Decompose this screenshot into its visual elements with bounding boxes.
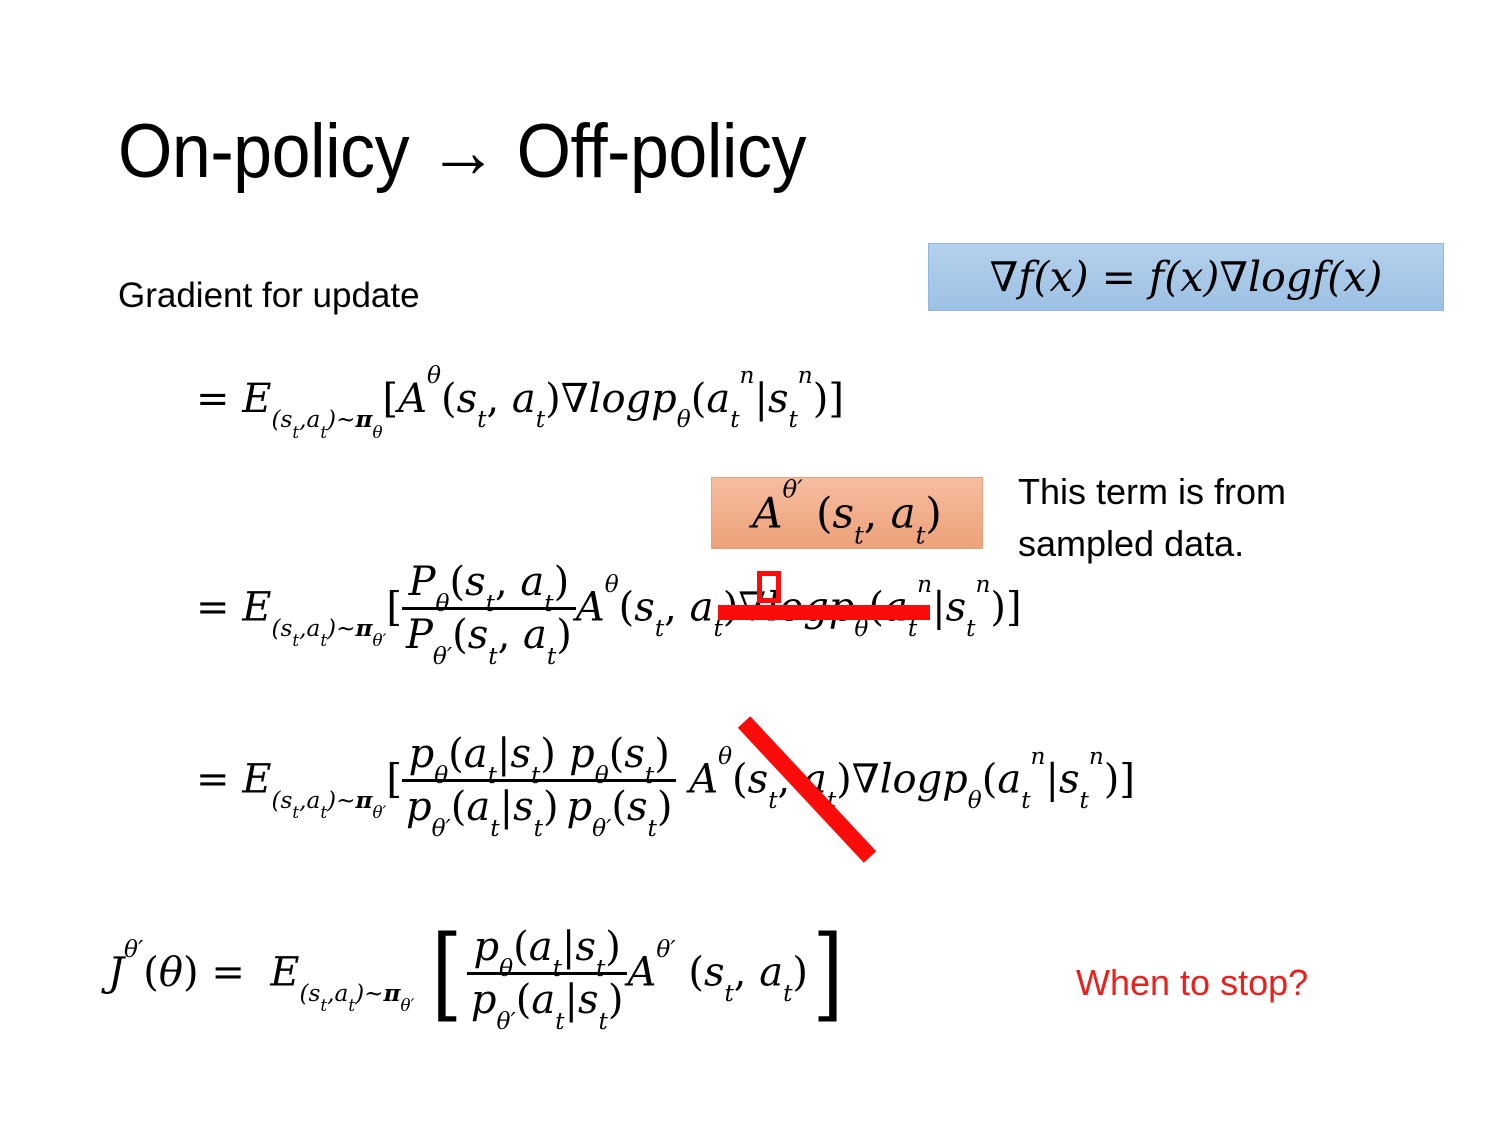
blue-highlight-box: ∇f(x) = f(x)∇logf(x): [928, 243, 1444, 311]
equation-line-4-objective: Jθ′(θ) = E(st,at)~πθ′ [pθ(at|st)pθ′(at|s…: [108, 916, 848, 1035]
gradient-for-update-label: Gradient for update: [118, 276, 420, 316]
slide-canvas: On-policy → Off-policy Gradient for upda…: [0, 0, 1500, 1125]
orange-highlight-box: Aθ′ (st, at): [711, 477, 983, 549]
sampled-data-note: This term is from sampled data.: [1018, 466, 1398, 570]
equation-line-1: = E(st,at)~πθ[Aθ(st, at)∇logpθ(atn|stn)]: [196, 376, 844, 422]
gradient-identity-formula: ∇f(x) = f(x)∇logf(x): [990, 253, 1383, 301]
red-theta-highlight-box: [757, 571, 781, 603]
when-to-stop-note: When to stop?: [1076, 962, 1308, 1004]
page-title: On-policy → Off-policy: [118, 112, 806, 192]
red-strikethrough-bar: [718, 605, 930, 620]
advantage-theta-prime-formula: Aθ′ (st, at): [752, 489, 942, 538]
equation-line-3: = E(st,at)~πθ′[pθ(at|st)pθ′(at|st)pθ(st)…: [196, 733, 1135, 832]
